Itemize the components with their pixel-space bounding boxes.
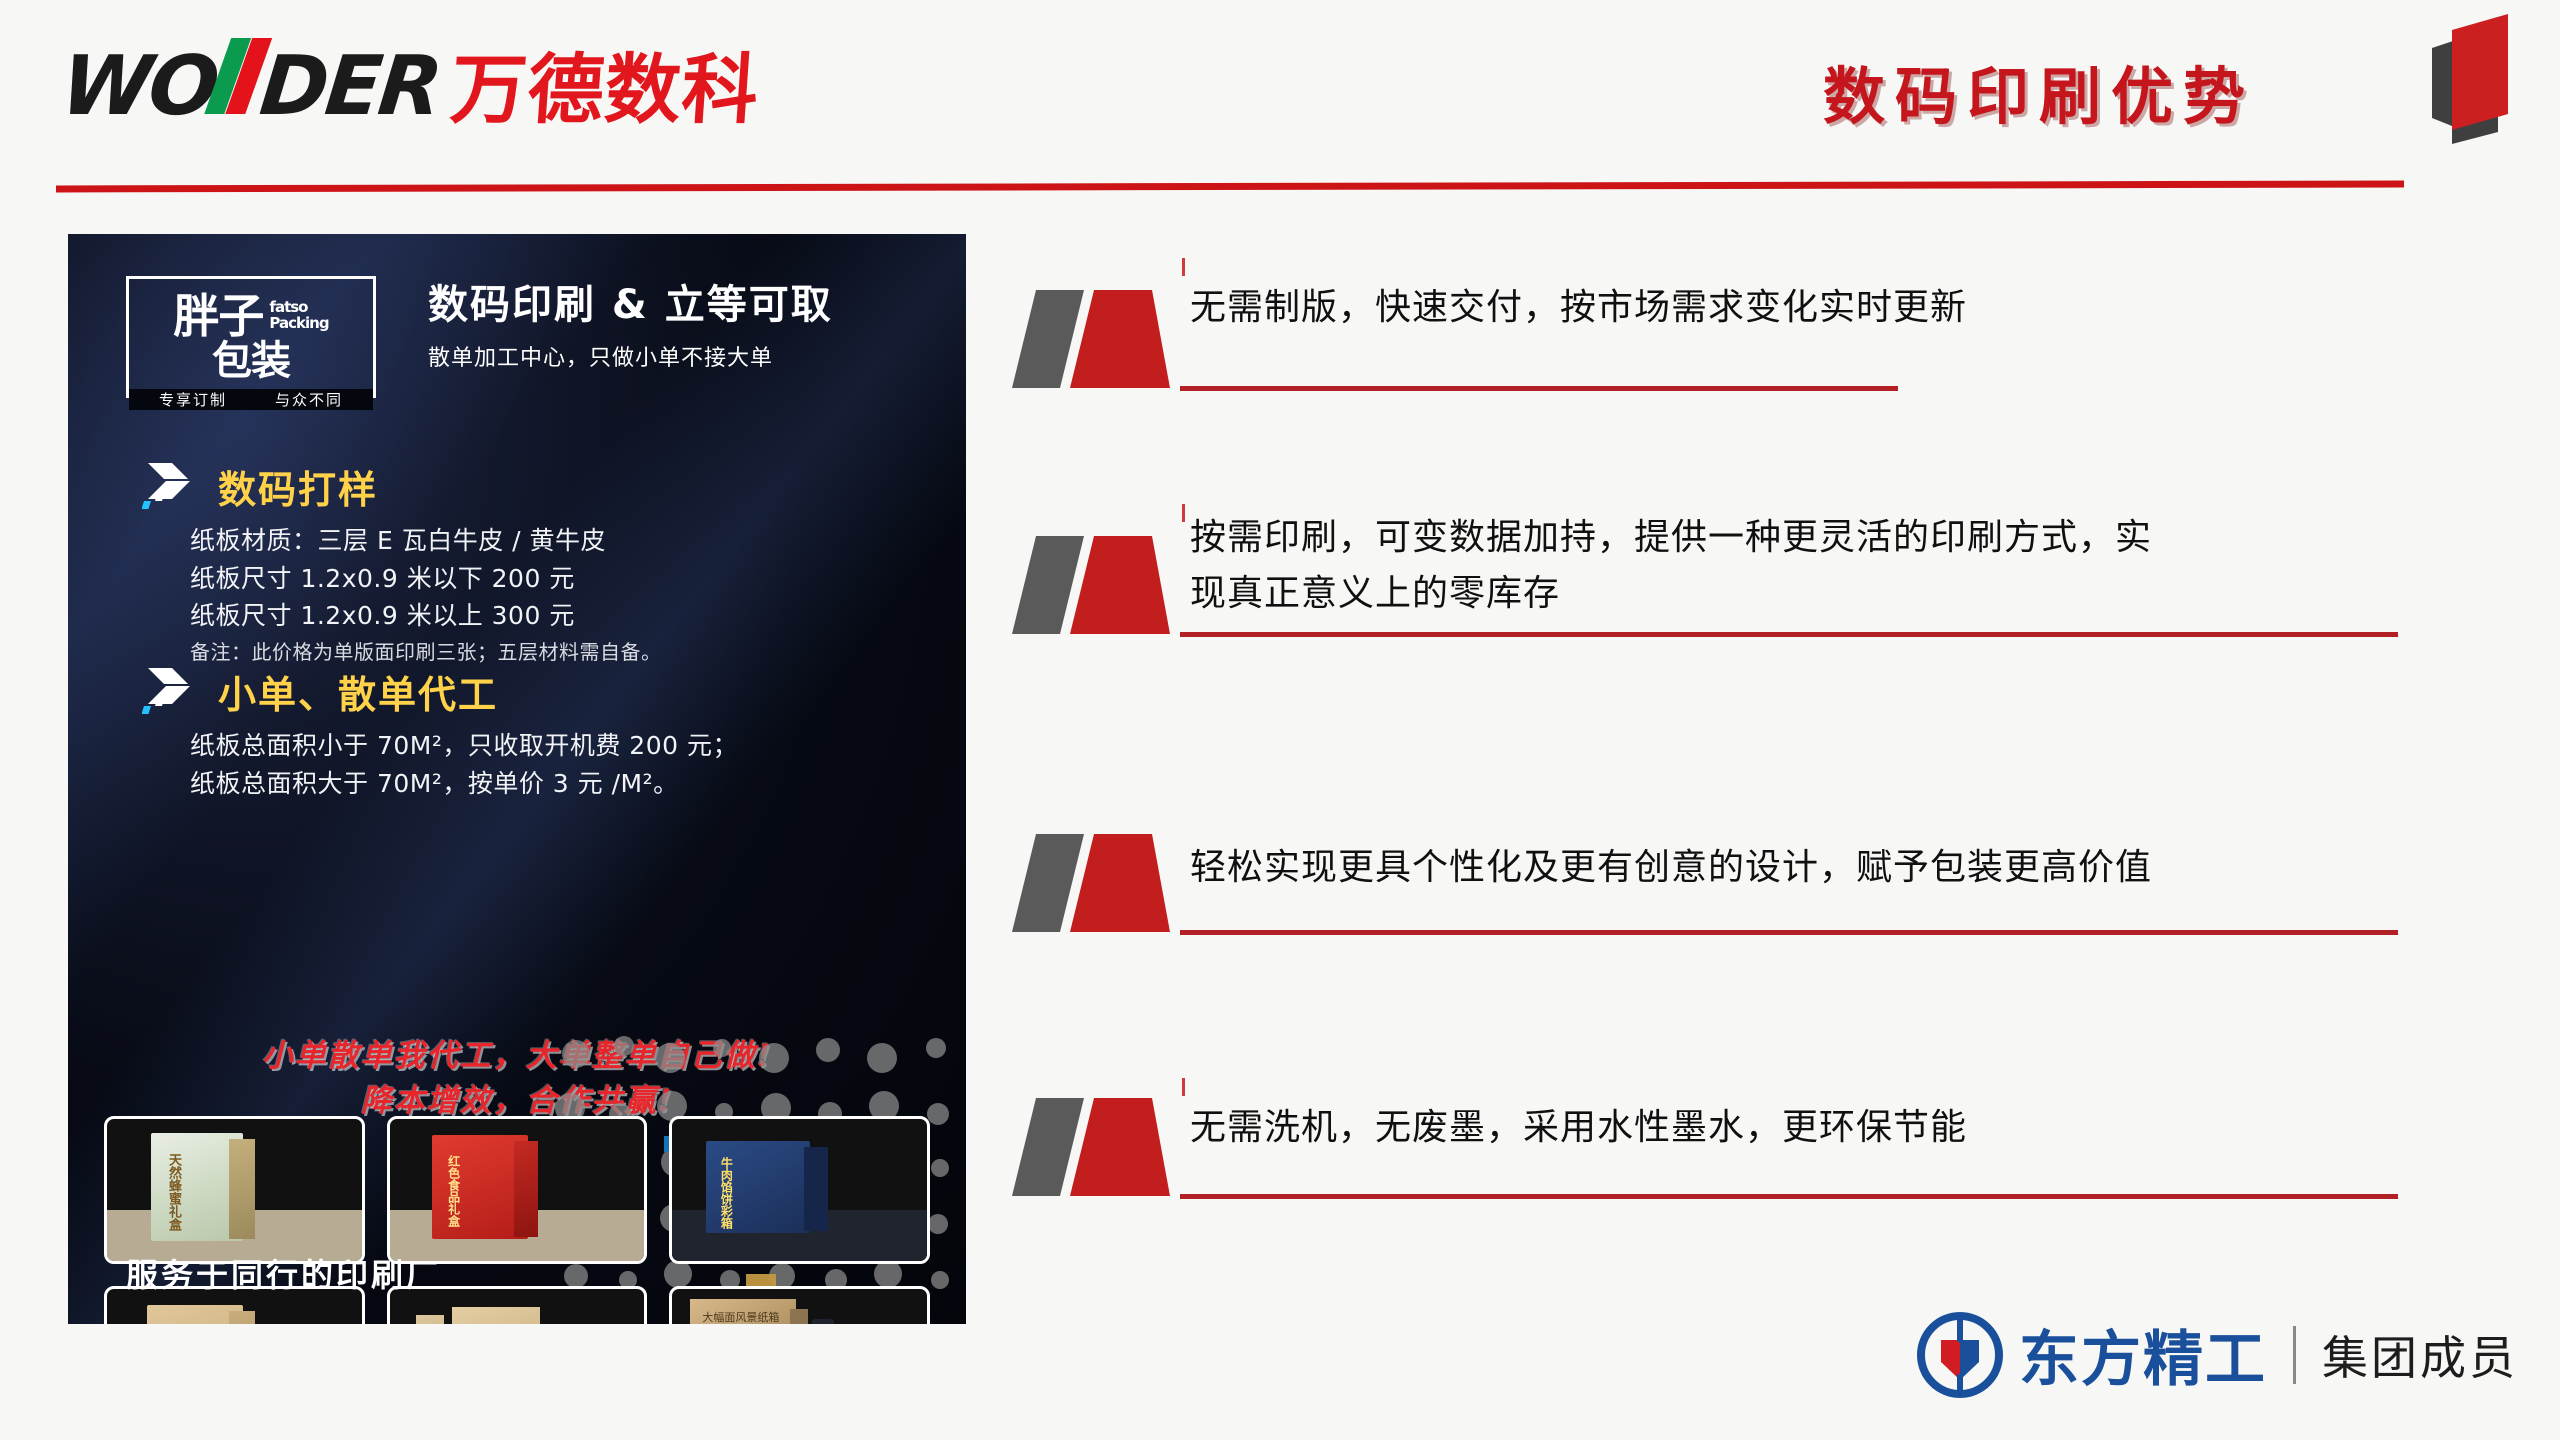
poster-brand-en: fatso Packing — [269, 300, 328, 332]
gallery-item: 红色食品礼盒 — [387, 1116, 648, 1264]
poster-section-1-note: 备注：此价格为单版面印刷三张；五层材料需自备。 — [190, 637, 932, 667]
advantage-item-3: 轻松实现更具个性化及更有创意的设计，赋予包装更高价值 — [1012, 840, 2372, 1056]
footer-company-name: 东方精工 — [2019, 1311, 2267, 1398]
advantage-text-2: 按需印刷，可变数据加持，提供一种更灵活的印刷方式，实 现真正意义上的零库存 — [1190, 510, 2372, 636]
chevron-arrow-icon — [142, 666, 208, 718]
advantage-item-1: 无需制版，快速交付，按市场需求变化实时更新 — [1012, 280, 2372, 510]
poster-brand-main-1: 胖子 — [173, 293, 263, 339]
poster-caption: 服务于同行的印刷厂 — [126, 1250, 441, 1296]
folded-page-mark-icon — [2410, 10, 2530, 150]
double-slash-marker-icon — [1012, 284, 1202, 400]
poster-brand-box: 胖子 fatso Packing 包装 专享订制 与众不同 — [126, 276, 376, 398]
advantage-item-2: 按需印刷，可变数据加持，提供一种更灵活的印刷方式，实 现真正意义上的零库存 — [1012, 510, 2372, 840]
poster-section-2-line-2: 纸板总面积大于 70M²，按单价 3 元 /M²。 — [190, 765, 932, 803]
double-slash-marker-icon — [1012, 828, 1202, 944]
slide-root: WO DER 万德数科 数码印刷优势 胖子 fatso Packing 包装 — [0, 0, 2560, 1440]
poster-section-1-line-2: 纸板尺寸 1.2x0.9 米以下 200 元 — [190, 560, 932, 598]
advantage-underline-2 — [1180, 632, 2398, 637]
poster-brand-main: 胖子 fatso Packing — [173, 293, 328, 339]
advantage-text-3: 轻松实现更具个性化及更有创意的设计，赋予包装更高价值 — [1190, 840, 2372, 910]
advantage-item-4: 无需洗机，无废墨，采用水性墨水，更环保节能 — [1012, 1056, 2372, 1256]
poster-section-2-title: 小单、散单代工 — [218, 664, 498, 719]
gallery-item: 大幅面风景纸箱 — [669, 1286, 930, 1324]
double-slash-marker-icon — [1012, 530, 1202, 646]
dongfang-emblem-icon — [1917, 1312, 2003, 1398]
logo-wordmark-part2: DER — [256, 46, 443, 128]
advantage-text-4: 无需洗机，无废墨，采用水性墨水，更环保节能 — [1190, 1056, 2372, 1170]
advantage-text-2-line-2: 现真正意义上的零库存 — [1190, 566, 2372, 622]
poster-brand-main-2: 包装 — [212, 341, 290, 381]
poster-headline: 数码印刷 & 立等可取 — [428, 280, 928, 330]
logo-wordmark-part1: WO — [57, 46, 220, 128]
poster-section-2-title-row: 小单、散单代工 — [142, 664, 932, 719]
poster-section-1-lines: 纸板材质：三层 E 瓦白牛皮 / 黄牛皮 纸板尺寸 1.2x0.9 米以下 20… — [190, 522, 932, 667]
advantage-underline-3 — [1180, 930, 2398, 935]
poster-subheadline: 散单加工中心，只做小单不接大单 — [428, 340, 928, 372]
gallery-item-label: 大幅面风景纸箱 — [702, 1309, 779, 1324]
caret-tick-1-icon — [1182, 258, 1185, 276]
poster-section-1-line-1: 纸板材质：三层 E 瓦白牛皮 / 黄牛皮 — [190, 522, 932, 560]
poster-brand-sub-right: 与众不同 — [275, 389, 343, 410]
gallery-item-label: 牛肉馅饼彩箱 — [718, 1157, 735, 1229]
poster-section-1-title: 数码打样 — [218, 459, 378, 514]
advantage-text-1: 无需制版，快速交付，按市场需求变化实时更新 — [1190, 280, 2372, 350]
advantage-list: 无需制版，快速交付，按市场需求变化实时更新 按需印刷，可变数据加持，提供一种更灵… — [1012, 280, 2372, 1256]
poster-headline-group: 数码印刷 & 立等可取 散单加工中心，只做小单不接大单 — [428, 280, 928, 372]
caret-tick-4-icon — [1182, 1078, 1185, 1096]
promo-poster-image: 胖子 fatso Packing 包装 专享订制 与众不同 数码印刷 & 立等可… — [68, 234, 966, 1324]
poster-section-1-line-3: 纸板尺寸 1.2x0.9 米以上 300 元 — [190, 597, 932, 635]
advantage-text-2-line-1: 按需印刷，可变数据加持，提供一种更灵活的印刷方式，实 — [1190, 510, 2372, 566]
logo-chinese-name: 万德数科 — [449, 52, 762, 128]
poster-section-2: 小单、散单代工 纸板总面积小于 70M²，只收取开机费 200 元； 纸板总面积… — [112, 664, 932, 802]
page-title: 数码印刷优势 — [1823, 46, 2255, 136]
advantage-underline-4 — [1180, 1194, 2398, 1199]
poster-brand-sub-left: 专享订制 — [159, 389, 227, 410]
advantage-underline-1 — [1180, 386, 1898, 391]
chevron-arrow-icon — [142, 461, 208, 513]
caret-tick-2-icon — [1182, 504, 1185, 522]
poster-section-2-lines: 纸板总面积小于 70M²，只收取开机费 200 元； 纸板总面积大于 70M²，… — [190, 727, 932, 802]
group-footer: 东方精工 集团成员 — [1917, 1311, 2518, 1398]
footer-divider — [2293, 1326, 2296, 1384]
poster-brand-sub: 专享订制 与众不同 — [129, 389, 373, 410]
gallery-item-label: 天然蜂蜜礼盒 — [165, 1153, 184, 1231]
company-logo: WO DER 万德数科 — [62, 38, 759, 128]
gallery-item-label: 红色食品礼盒 — [446, 1155, 463, 1227]
poster-section-1: 数码打样 纸板材质：三层 E 瓦白牛皮 / 黄牛皮 纸板尺寸 1.2x0.9 米… — [112, 459, 932, 667]
header-divider — [56, 181, 2404, 193]
logo-wordmark: WO DER — [57, 38, 444, 128]
double-slash-marker-icon — [1012, 1092, 1202, 1208]
footer-member-label: 集团成员 — [2322, 1322, 2518, 1388]
gallery-item: 天然蜂蜜礼盒 — [104, 1116, 365, 1264]
poster-section-1-title-row: 数码打样 — [142, 459, 932, 514]
gallery-item: 牛肉馅饼彩箱 — [669, 1116, 930, 1264]
poster-section-2-line-1: 纸板总面积小于 70M²，只收取开机费 200 元； — [190, 727, 932, 765]
